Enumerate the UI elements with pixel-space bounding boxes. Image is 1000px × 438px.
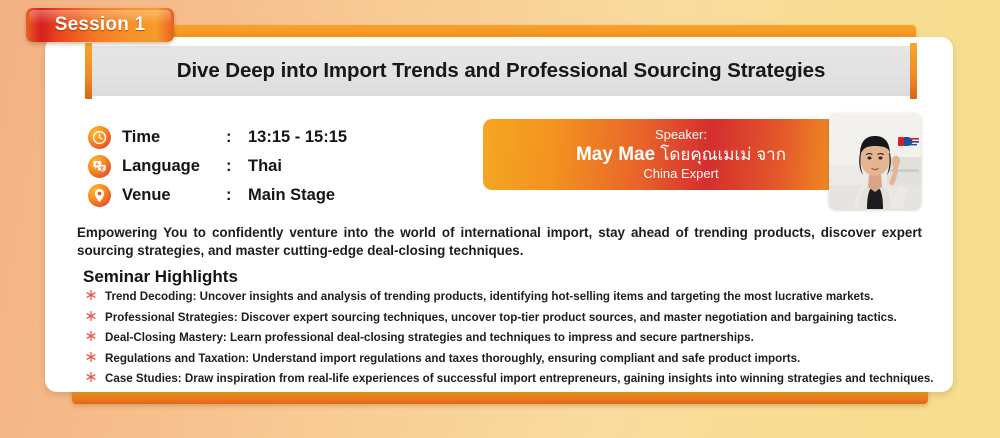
list-item: Trend Decoding: Uncover insights and ana… <box>85 289 935 304</box>
list-item: Case Studies: Draw inspiration from real… <box>85 371 935 386</box>
asterisk-bullet-icon <box>85 310 99 325</box>
list-item: Regulations and Taxation: Understand imp… <box>85 351 935 366</box>
clock-icon <box>88 126 111 149</box>
info-colon-language: : <box>226 157 248 176</box>
highlights-list: Trend Decoding: Uncover insights and ana… <box>85 289 935 392</box>
list-item-text: Deal-Closing Mastery: Learn professional… <box>105 330 754 345</box>
speaker-organization: China Expert <box>643 166 718 182</box>
info-row-time: Time : 13:15 - 15:15 <box>88 124 347 151</box>
speaker-avatar-photo <box>829 113 921 209</box>
session-badge-label: Session 1 <box>55 14 146 36</box>
info-colon-venue: : <box>226 186 248 205</box>
list-item-text: Regulations and Taxation: Understand imp… <box>105 351 800 366</box>
asterisk-bullet-icon <box>85 351 99 366</box>
language-icon: A 文 <box>88 155 111 178</box>
list-item-text: Trend Decoding: Uncover insights and ana… <box>105 289 874 304</box>
list-item-text: Professional Strategies: Discover expert… <box>105 310 897 325</box>
speaker-name-line: May Mae โดยคุณเมเม่ จาก <box>576 143 786 166</box>
info-colon-time: : <box>226 128 248 147</box>
info-row-venue: Venue : Main Stage <box>88 182 347 209</box>
info-row-language: A 文 Language : Thai <box>88 153 347 180</box>
highlights-heading: Seminar Highlights <box>83 267 238 287</box>
speaker-card: Speaker: May Mae โดยคุณเมเม่ จาก China E… <box>483 119 879 190</box>
speaker-name-en: May Mae <box>576 144 655 165</box>
info-label-language: Language <box>122 157 226 176</box>
asterisk-bullet-icon <box>85 330 99 345</box>
session-card: Dive Deep into Import Trends and Profess… <box>45 37 953 392</box>
asterisk-bullet-icon <box>85 371 99 386</box>
info-label-time: Time <box>122 128 226 147</box>
list-item: Deal-Closing Mastery: Learn professional… <box>85 330 935 345</box>
info-label-venue: Venue <box>122 186 226 205</box>
speaker-name-th: โดยคุณเมเม่ จาก <box>660 145 786 164</box>
info-value-language: Thai <box>248 157 282 176</box>
speaker-role-label: Speaker: <box>655 127 707 143</box>
session-badge: Session 1 <box>26 8 174 42</box>
location-pin-icon <box>88 184 111 207</box>
session-title-bar: Dive Deep into Import Trends and Profess… <box>92 46 910 96</box>
list-item-text: Case Studies: Draw inspiration from real… <box>105 371 934 386</box>
session-description: Empowering You to confidently venture in… <box>77 224 922 259</box>
list-item: Professional Strategies: Discover expert… <box>85 310 935 325</box>
info-value-venue: Main Stage <box>248 186 335 205</box>
session-info-block: Time : 13:15 - 15:15 A 文 Language : Thai <box>88 124 347 211</box>
svg-text:文: 文 <box>100 165 105 172</box>
info-value-time: 13:15 - 15:15 <box>248 128 347 147</box>
page-title: Dive Deep into Import Trends and Profess… <box>177 59 826 83</box>
asterisk-bullet-icon <box>85 289 99 304</box>
